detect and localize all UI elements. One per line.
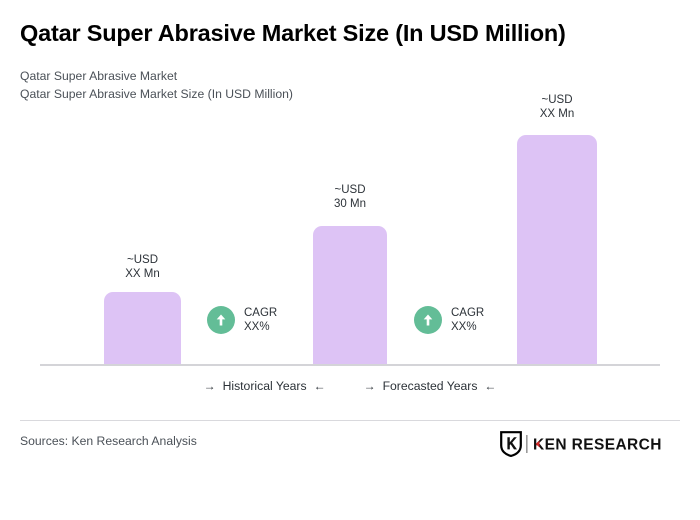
period-forecasted: → Forecasted Years ←	[364, 379, 497, 393]
cagr-annotation-2-line-2: XX%	[451, 320, 484, 334]
sources-text: Sources: Ken Research Analysis	[20, 434, 197, 448]
chart-page: Qatar Super Abrasive Market Size (In USD…	[0, 0, 700, 520]
bar-3[interactable]	[517, 135, 597, 365]
bar-1-label-line-1: ~USD	[104, 253, 181, 267]
brand-wordmark: KEN RESEARCH	[526, 434, 674, 454]
arrow-left-icon: ←	[314, 379, 326, 393]
bar-2-label: ~USD 30 Mn	[313, 183, 387, 211]
arrow-up-icon	[207, 306, 235, 334]
bar-2-label-line-2: 30 Mn	[313, 197, 387, 211]
period-historical: → Historical Years ←	[204, 379, 326, 393]
cagr-annotation-1-text: CAGR XX%	[244, 306, 277, 334]
bar-3-label-line-1: ~USD	[517, 93, 597, 107]
cagr-annotation-1-line-1: CAGR	[244, 306, 277, 320]
shield-logo-icon	[500, 431, 522, 457]
bar-chart-plot: ~USD XX Mn ~USD 30 Mn ~USD XX Mn CAGR XX	[0, 0, 700, 375]
ken-research-logo: KEN RESEARCH	[500, 431, 674, 457]
bar-2-label-line-1: ~USD	[313, 183, 387, 197]
period-historical-label: Historical Years	[223, 379, 307, 393]
arrow-right-icon: →	[204, 379, 216, 393]
arrow-up-icon	[414, 306, 442, 334]
cagr-annotation-2: CAGR XX%	[414, 306, 484, 334]
arrow-left-icon: ←	[484, 379, 496, 393]
bar-3-label-line-2: XX Mn	[517, 107, 597, 121]
cagr-annotation-1: CAGR XX%	[207, 306, 277, 334]
cagr-annotation-1-line-2: XX%	[244, 320, 277, 334]
bar-1[interactable]	[104, 292, 181, 365]
bar-2[interactable]	[313, 226, 387, 365]
cagr-annotation-2-line-1: CAGR	[451, 306, 484, 320]
bar-1-label-line-2: XX Mn	[104, 267, 181, 281]
period-legend: → Historical Years ← → Forecasted Years …	[0, 379, 700, 393]
bar-3-label: ~USD XX Mn	[517, 93, 597, 121]
footer-divider	[20, 420, 680, 421]
svg-text:KEN RESEARCH: KEN RESEARCH	[533, 437, 662, 454]
arrow-right-icon: →	[364, 379, 376, 393]
bar-1-label: ~USD XX Mn	[104, 253, 181, 281]
cagr-annotation-2-text: CAGR XX%	[451, 306, 484, 334]
period-forecasted-label: Forecasted Years	[383, 379, 478, 393]
axis-baseline	[40, 364, 660, 366]
